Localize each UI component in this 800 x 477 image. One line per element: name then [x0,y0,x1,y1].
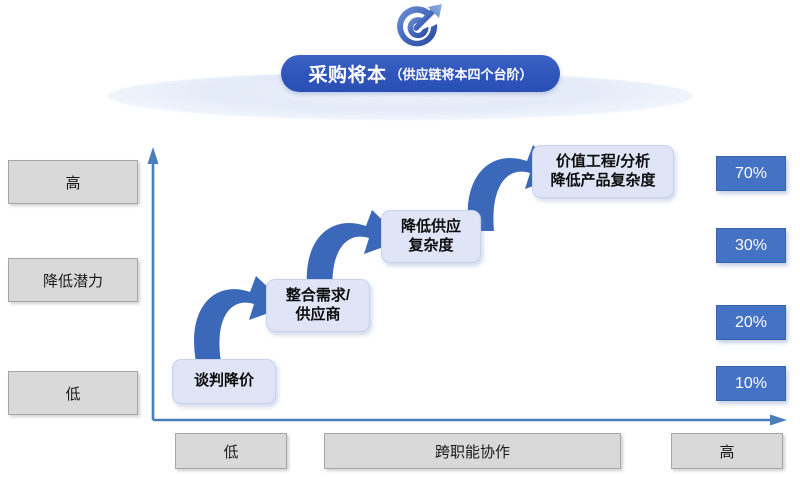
title-main-text: 采购将本 [308,60,386,87]
y-label-high-text: 高 [65,172,80,193]
y-label-high: 高 [8,160,138,204]
diagram-title-pill: 采购将本 （供应链将本四个台阶） [281,55,560,92]
percent-box-20: 20% [716,305,786,340]
x-label-middle-text: 跨职能协作 [435,441,510,462]
step-box-4-line2: 降低产品复杂度 [550,172,655,190]
step-box-4-line1: 价值工程/分析 [556,153,650,171]
x-label-middle: 跨职能协作 [324,433,621,469]
percent-box-70-text: 70% [735,165,767,183]
percent-box-70: 70% [716,156,786,191]
y-label-middle-text: 降低潜力 [43,270,103,291]
percent-box-10: 10% [716,366,786,401]
y-label-low: 低 [8,371,138,415]
x-axis [153,415,787,426]
step-box-1-label: 谈判降价 [194,372,254,390]
diagram-canvas: 采购将本 （供应链将本四个台阶） 高 降低潜力 低 [0,0,800,477]
target-arrow-icon [390,2,446,54]
percent-box-10-text: 10% [735,375,767,393]
title-sub-text: （供应链将本四个台阶） [390,64,533,83]
y-label-low-text: 低 [65,383,80,404]
step-box-3-line1: 降低供应 [401,218,461,236]
percent-box-20-text: 20% [735,314,767,332]
step-box-3[interactable]: 降低供应 复杂度 [381,210,481,263]
step-box-1[interactable]: 谈判降价 [172,359,276,404]
step-box-2[interactable]: 整合需求/ 供应商 [266,279,370,332]
y-axis [148,147,159,420]
step-box-3-line2: 复杂度 [408,237,453,255]
y-label-middle: 降低潜力 [8,258,138,302]
x-label-low-text: 低 [223,441,238,462]
x-label-low: 低 [175,433,287,469]
percent-box-30: 30% [716,228,786,263]
percent-box-30-text: 30% [735,237,767,255]
step-box-2-line1: 整合需求/ [286,287,350,305]
step-box-2-line2: 供应商 [295,306,340,324]
x-label-high-text: 高 [719,441,734,462]
step-box-4[interactable]: 价值工程/分析 降低产品复杂度 [532,145,674,198]
x-label-high: 高 [671,433,783,469]
